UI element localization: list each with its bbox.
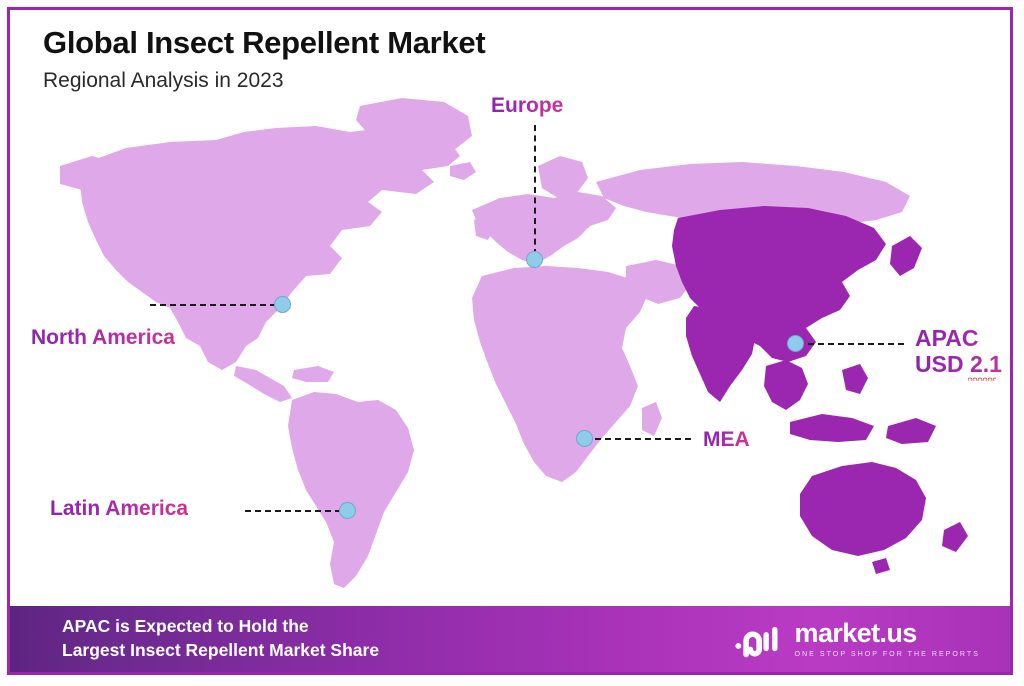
map-region-apac-philippines [842,364,868,394]
region-label-apac-value: USD 2.1 Bn [915,351,1013,377]
map-region-apac-png [886,418,936,444]
footer-headline-line1: APAC is Expected to Hold the [62,615,379,639]
logo-text-block: market.us ONE STOP SHOP FOR THE REPORTS [795,620,980,658]
map-region-iceland [450,162,476,180]
page-subtitle: Regional Analysis in 2023 [43,69,485,92]
leader-line-north-america [150,304,276,306]
map-region-south-america [288,392,414,588]
brand-logo[interactable]: market.us ONE STOP SHOP FOR THE REPORTS [734,619,980,659]
map-region-apac-indonesia [790,414,874,442]
map-region-apac-australia [800,462,926,556]
marker-dot-apac[interactable] [787,335,804,352]
leader-line-mea [585,438,691,440]
region-label-apac-name: APAC [915,325,978,351]
map-region-scandinavia [538,156,588,198]
map-region-madagascar [642,402,662,436]
footer-headline-line2: Largest Insect Repellent Market Share [62,639,379,663]
logo-tagline: ONE STOP SHOP FOR THE REPORTS [795,651,980,658]
region-label-latin-america: Latin America [50,497,188,521]
map-region-apac-tasmania [872,558,890,574]
region-label-europe: Europe [491,94,563,118]
leader-line-europe [534,125,536,255]
market-us-logo-icon [734,619,786,659]
header: Global Insect Repellent Market Regional … [43,26,485,92]
map-region-apac-india [686,306,756,402]
marker-dot-north-america[interactable] [274,296,291,313]
marker-dot-latin-america[interactable] [339,502,356,519]
marker-dot-europe[interactable] [526,251,543,268]
map-region-apac-japan [890,236,922,276]
map-region-caribbean [292,366,334,382]
logo-wordmark: market.us [795,620,980,647]
leader-line-apac [798,343,904,345]
map-region-apac-sea [764,360,808,410]
region-label-mea: MEA [703,428,750,452]
page-title: Global Insect Repellent Market [43,26,485,60]
leader-line-latin-america [245,510,341,512]
map-region-central-america [234,366,292,402]
map-region-africa [472,266,648,482]
region-label-north-america: North America [31,326,175,350]
marker-dot-mea[interactable] [576,430,593,447]
infographic-frame: Global Insect Repellent Market Regional … [7,7,1013,675]
spellcheck-underline [968,377,996,381]
map-region-apac-new-zealand [942,522,968,552]
region-label-apac: APAC USD 2.1 Bn [915,325,1013,378]
footer-headline: APAC is Expected to Hold the Largest Ins… [62,615,379,662]
footer-banner: APAC is Expected to Hold the Largest Ins… [10,606,1010,672]
